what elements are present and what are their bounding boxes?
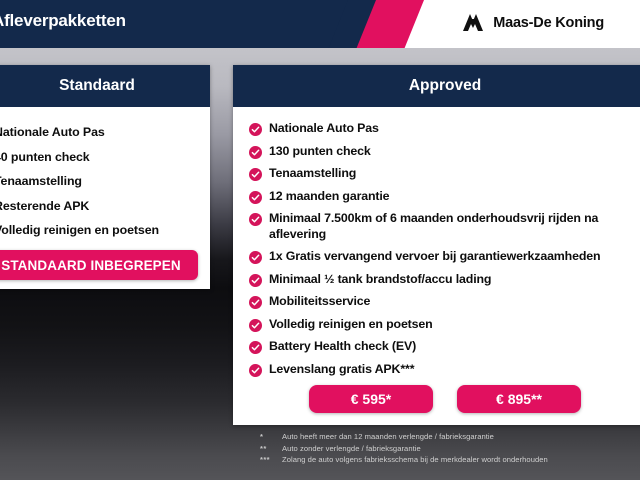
maas-de-koning-m-logo-icon [462,13,484,32]
list-item: Nationale Auto Pas [233,121,640,137]
list-item-label: Levenslang gratis APK*** [269,362,414,378]
list-item: 12 maanden garantie [233,189,640,205]
standaard-inbegrepen-button[interactable]: STANDAARD INBEGREPEN [0,250,198,280]
check-circle-icon [249,341,262,354]
footnote-text: Auto heeft meer dan 12 maanden verlengde… [282,432,494,441]
list-item-label: Battery Health check (EV) [269,339,416,355]
check-circle-icon [249,191,262,204]
footnote-text: Auto zonder verlengde / fabrieksgarantie [282,444,421,453]
list-item: Tenaamstelling [0,174,210,188]
list-item: Resterende APK [0,199,210,213]
list-item-label: 130 punten check [269,144,371,160]
footnote-row: *** Zolang de auto volgens fabrieksschem… [260,455,640,464]
approved-package-card: Approved Nationale Auto Pas 130 punten c… [233,65,640,425]
check-circle-icon [249,123,262,136]
brand-logo: Maas-De Koning [462,13,604,32]
list-item-label: 1x Gratis vervangend vervoer bij garanti… [269,249,600,265]
footnote-marker: ** [260,444,282,453]
footnote-text: Zolang de auto volgens fabrieksschema bi… [282,455,548,464]
check-circle-icon [249,168,262,181]
check-circle-icon [249,146,262,159]
afleverpakketten-page: Afleverpakketten Maas-De Koning Standaar… [0,0,640,480]
list-item-label: Minimaal 7.500km of 6 maanden onderhouds… [269,211,609,242]
list-item-label: 12 maanden garantie [269,189,389,205]
footnote-row: * Auto heeft meer dan 12 maanden verleng… [260,432,640,441]
check-circle-icon [249,319,262,332]
list-item: Minimaal 7.500km of 6 maanden onderhouds… [233,211,640,242]
approved-card-heading: Approved [233,65,640,107]
list-item: 1x Gratis vervangend vervoer bij garanti… [233,249,640,265]
list-item: Mobiliteitsservice [233,294,640,310]
list-item-label: Mobiliteitsservice [269,294,370,310]
standaard-card-heading: Standaard [0,65,210,107]
check-circle-icon [249,296,262,309]
list-item: Levenslang gratis APK*** [233,362,640,378]
check-circle-icon [249,251,262,264]
list-item-label: Volledig reinigen en poetsen [269,317,433,333]
check-circle-icon [249,274,262,287]
check-circle-icon [249,364,262,377]
price-button-895[interactable]: € 895** [457,385,581,413]
footnote-row: ** Auto zonder verlengde / fabrieksgaran… [260,444,640,453]
price-button-595[interactable]: € 595* [309,385,433,413]
list-item: 130 punten check [233,144,640,160]
list-item: Tenaamstelling [233,166,640,182]
list-item: 40 punten check [0,150,210,164]
list-item: Volledig reinigen en poetsen [233,317,640,333]
check-circle-icon [249,213,262,226]
list-item-label: Nationale Auto Pas [269,121,379,137]
standaard-feature-list: Nationale Auto Pas 40 punten check Tenaa… [0,107,210,237]
list-item: Minimaal ½ tank brandstof/accu lading [233,272,640,288]
footnotes-block: * Auto heeft meer dan 12 maanden verleng… [260,432,640,467]
approved-feature-list: Nationale Auto Pas 130 punten check Tena… [233,107,640,377]
list-item: Battery Health check (EV) [233,339,640,355]
price-button-row: € 595* € 895** [233,385,640,413]
page-title: Afleverpakketten [0,11,126,31]
list-item-label: Tenaamstelling [269,166,356,182]
list-item: Nationale Auto Pas [0,125,210,139]
list-item: Volledig reinigen en poetsen [0,223,210,237]
list-item-label: Minimaal ½ tank brandstof/accu lading [269,272,491,288]
page-header: Afleverpakketten Maas-De Koning [0,0,640,48]
footnote-marker: *** [260,455,282,464]
brand-name: Maas-De Koning [493,15,604,31]
footnote-marker: * [260,432,282,441]
